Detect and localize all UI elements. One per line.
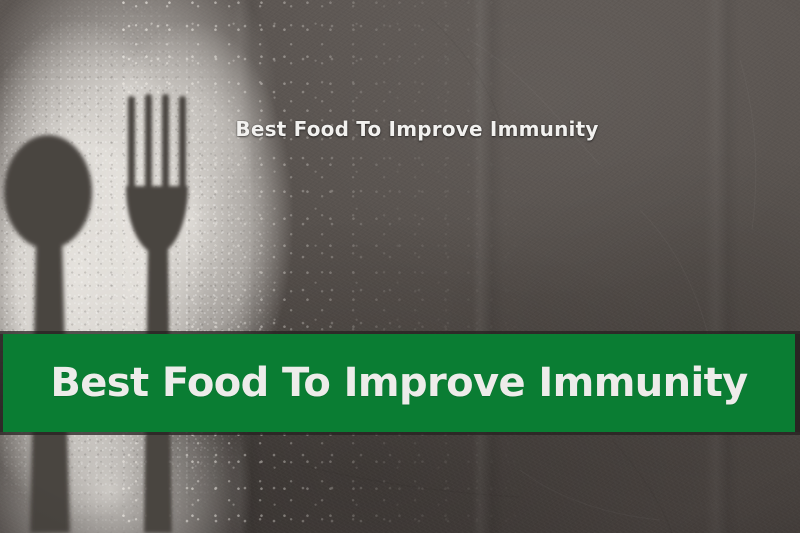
- fork-icon: [126, 94, 188, 533]
- banner-right-border: [795, 334, 800, 432]
- banner-title: Best Food To Improve Immunity: [50, 363, 747, 403]
- screenshot-canvas: Best Food To Improve Immunity Best Food …: [0, 0, 800, 533]
- cutlery-silhouettes: [0, 0, 300, 533]
- photo-overlay-title: Best Food To Improve Immunity: [0, 117, 800, 141]
- banner-bottom-border: [0, 432, 800, 435]
- banner-left-border: [0, 334, 3, 432]
- green-title-banner: Best Food To Improve Immunity: [3, 334, 795, 432]
